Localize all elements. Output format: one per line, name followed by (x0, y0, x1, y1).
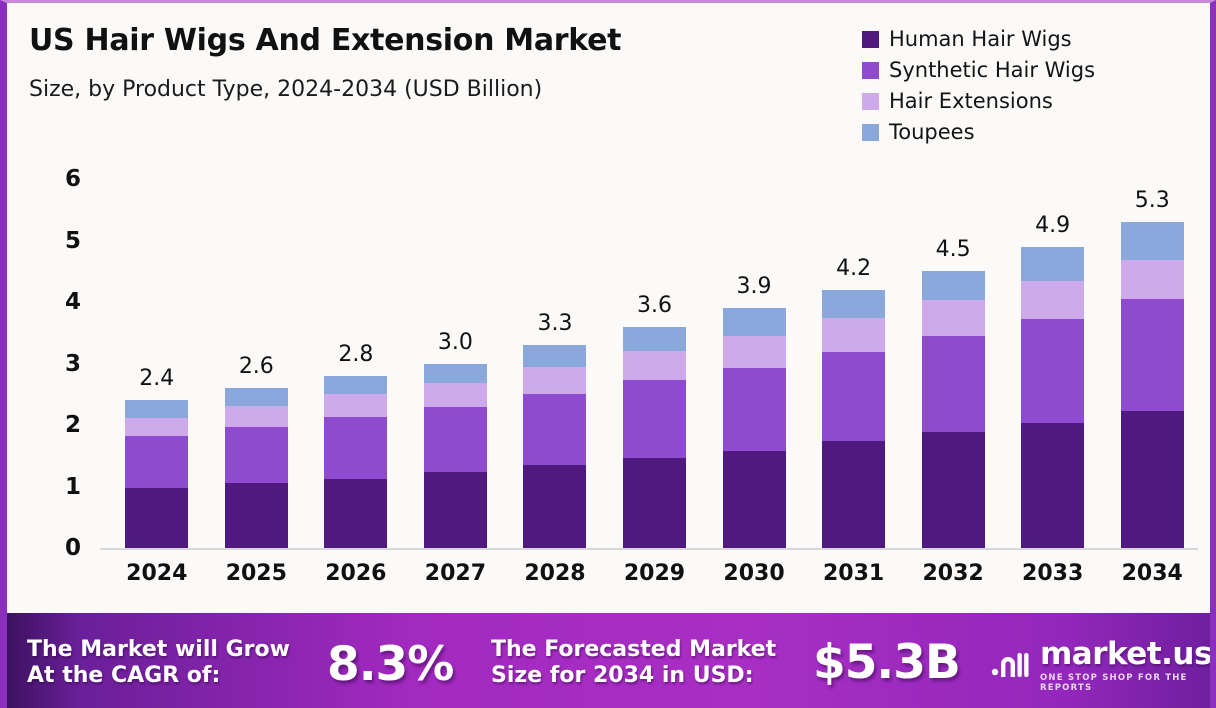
bar-segment[interactable] (424, 383, 487, 407)
bar-stack[interactable] (523, 345, 586, 548)
bar-total-label: 2.6 (239, 354, 274, 379)
bar-segment[interactable] (225, 427, 288, 483)
bar-total-label: 3.0 (438, 330, 473, 355)
bar-total-label: 3.3 (537, 311, 572, 336)
x-axis-tick-label: 2032 (910, 561, 997, 586)
bar-stack[interactable] (324, 376, 387, 548)
y-axis-tick-label: 3 (65, 351, 81, 377)
bar-segment[interactable] (225, 388, 288, 406)
bar-segment[interactable] (523, 465, 586, 548)
bar-stack[interactable] (723, 308, 786, 548)
bar-segment[interactable] (623, 351, 686, 380)
bar-segment[interactable] (225, 406, 288, 427)
plot-area: 2.42.62.83.03.33.63.94.24.54.95.3 (100, 179, 1195, 548)
forecast-size-value: $5.3B (813, 635, 960, 690)
bar-segment[interactable] (623, 380, 686, 457)
bar-total-label: 4.2 (836, 256, 871, 281)
bar-segment[interactable] (1121, 260, 1184, 299)
bar-total-label: 2.4 (139, 366, 174, 391)
y-axis-tick-label: 2 (65, 412, 81, 438)
bar-segment[interactable] (324, 376, 387, 394)
x-axis-tick-label: 2028 (511, 561, 598, 586)
y-axis-tick-label: 1 (65, 474, 81, 500)
bar-stack[interactable] (623, 327, 686, 548)
x-axis-tick-label: 2034 (1109, 561, 1196, 586)
bar-segment[interactable] (125, 400, 188, 417)
bar-segment[interactable] (723, 336, 786, 368)
y-axis-tick-label: 6 (65, 166, 81, 192)
bar-segment[interactable] (125, 488, 188, 548)
legend-swatch-icon (862, 124, 879, 141)
bar-stack[interactable] (424, 364, 487, 549)
bar-segment[interactable] (424, 472, 487, 548)
bar-segment[interactable] (822, 290, 885, 318)
legend-swatch-icon (862, 93, 879, 110)
cagr-value: 8.3% (327, 637, 453, 692)
bar-segment[interactable] (523, 394, 586, 465)
x-axis-baseline (100, 548, 1198, 550)
bar-stack[interactable] (225, 388, 288, 548)
bar-total-label: 4.5 (936, 237, 971, 262)
bar-total-label: 4.9 (1035, 213, 1070, 238)
x-axis-tick-label: 2024 (113, 561, 200, 586)
bar-segment[interactable] (922, 300, 985, 336)
bar-segment[interactable] (324, 394, 387, 417)
bar-stack[interactable] (922, 271, 985, 548)
bar-segment[interactable] (1021, 319, 1084, 424)
bar-total-label: 5.3 (1135, 188, 1170, 213)
legend-swatch-icon (862, 31, 879, 48)
bar-segment[interactable] (922, 432, 985, 548)
bar-segment[interactable] (1021, 423, 1084, 548)
bar-segment[interactable] (623, 327, 686, 352)
y-axis-tick-label: 5 (65, 228, 81, 254)
bar-segment[interactable] (424, 364, 487, 383)
legend-item-label: Human Hair Wigs (889, 27, 1072, 51)
brand-tagline: ONE STOP SHOP FOR THE REPORTS (1040, 673, 1212, 693)
bar-segment[interactable] (1021, 281, 1084, 319)
x-axis-tick-label: 2027 (412, 561, 499, 586)
bar-segment[interactable] (424, 407, 487, 473)
page-title: US Hair Wigs And Extension Market (29, 23, 621, 58)
logo-mark-icon (989, 647, 1031, 685)
legend-item[interactable]: Human Hair Wigs (862, 27, 1095, 51)
legend-item[interactable]: Hair Extensions (862, 89, 1095, 113)
bar-stack[interactable] (125, 400, 188, 548)
bar-stack[interactable] (822, 290, 885, 548)
x-axis-tick-label: 2030 (711, 561, 798, 586)
bar-segment[interactable] (1121, 411, 1184, 548)
cagr-caption: The Market will GrowAt the CAGR of: (27, 637, 290, 689)
x-axis-tick-label: 2025 (213, 561, 300, 586)
bar-segment[interactable] (523, 345, 586, 367)
bar-segment[interactable] (324, 479, 387, 548)
bar-segment[interactable] (225, 483, 288, 548)
bar-segment[interactable] (723, 308, 786, 336)
brand-logo[interactable]: market.us ONE STOP SHOP FOR THE REPORTS (989, 639, 1212, 693)
page-subtitle: Size, by Product Type, 2024-2034 (USD Bi… (29, 77, 542, 102)
brand-name: market.us (1040, 639, 1212, 670)
bar-segment[interactable] (922, 336, 985, 432)
bar-segment[interactable] (922, 271, 985, 300)
x-axis-tick-label: 2029 (611, 561, 698, 586)
bar-total-label: 2.8 (338, 342, 373, 367)
bar-stack[interactable] (1021, 247, 1084, 548)
x-axis-tick-label: 2026 (312, 561, 399, 586)
bar-segment[interactable] (723, 368, 786, 451)
chart-legend: Human Hair WigsSynthetic Hair WigsHair E… (862, 27, 1095, 144)
x-axis-tick-label: 2031 (810, 561, 897, 586)
legend-swatch-icon (862, 62, 879, 79)
forecast-size-caption: The Forecasted MarketSize for 2034 in US… (491, 637, 776, 689)
bar-total-label: 3.9 (737, 274, 772, 299)
y-axis: 0123456 (33, 179, 81, 548)
x-axis-tick-label: 2033 (1009, 561, 1096, 586)
legend-item-label: Hair Extensions (889, 89, 1053, 113)
footer-banner: The Market will GrowAt the CAGR of: 8.3%… (7, 613, 1210, 708)
bar-segment[interactable] (324, 417, 387, 479)
bar-segment[interactable] (1121, 222, 1184, 260)
y-axis-tick-label: 4 (65, 289, 81, 315)
bar-segment[interactable] (125, 436, 188, 488)
bar-segment[interactable] (822, 318, 885, 352)
legend-item-label: Synthetic Hair Wigs (889, 58, 1095, 82)
bar-segment[interactable] (1121, 299, 1184, 412)
legend-item[interactable]: Synthetic Hair Wigs (862, 58, 1095, 82)
bar-stack[interactable] (1121, 222, 1184, 548)
bar-segment[interactable] (523, 367, 586, 394)
bar-segment[interactable] (125, 418, 188, 436)
y-axis-tick-label: 0 (65, 535, 81, 561)
bar-segment[interactable] (822, 441, 885, 548)
infographic-root: US Hair Wigs And Extension Market Size, … (0, 0, 1216, 708)
bar-segment[interactable] (723, 451, 786, 548)
bar-segment[interactable] (623, 458, 686, 548)
legend-item-label: Toupees (889, 120, 975, 144)
legend-item[interactable]: Toupees (862, 120, 1095, 144)
bar-segment[interactable] (1021, 247, 1084, 281)
bar-segment[interactable] (822, 352, 885, 441)
bar-total-label: 3.6 (637, 293, 672, 318)
